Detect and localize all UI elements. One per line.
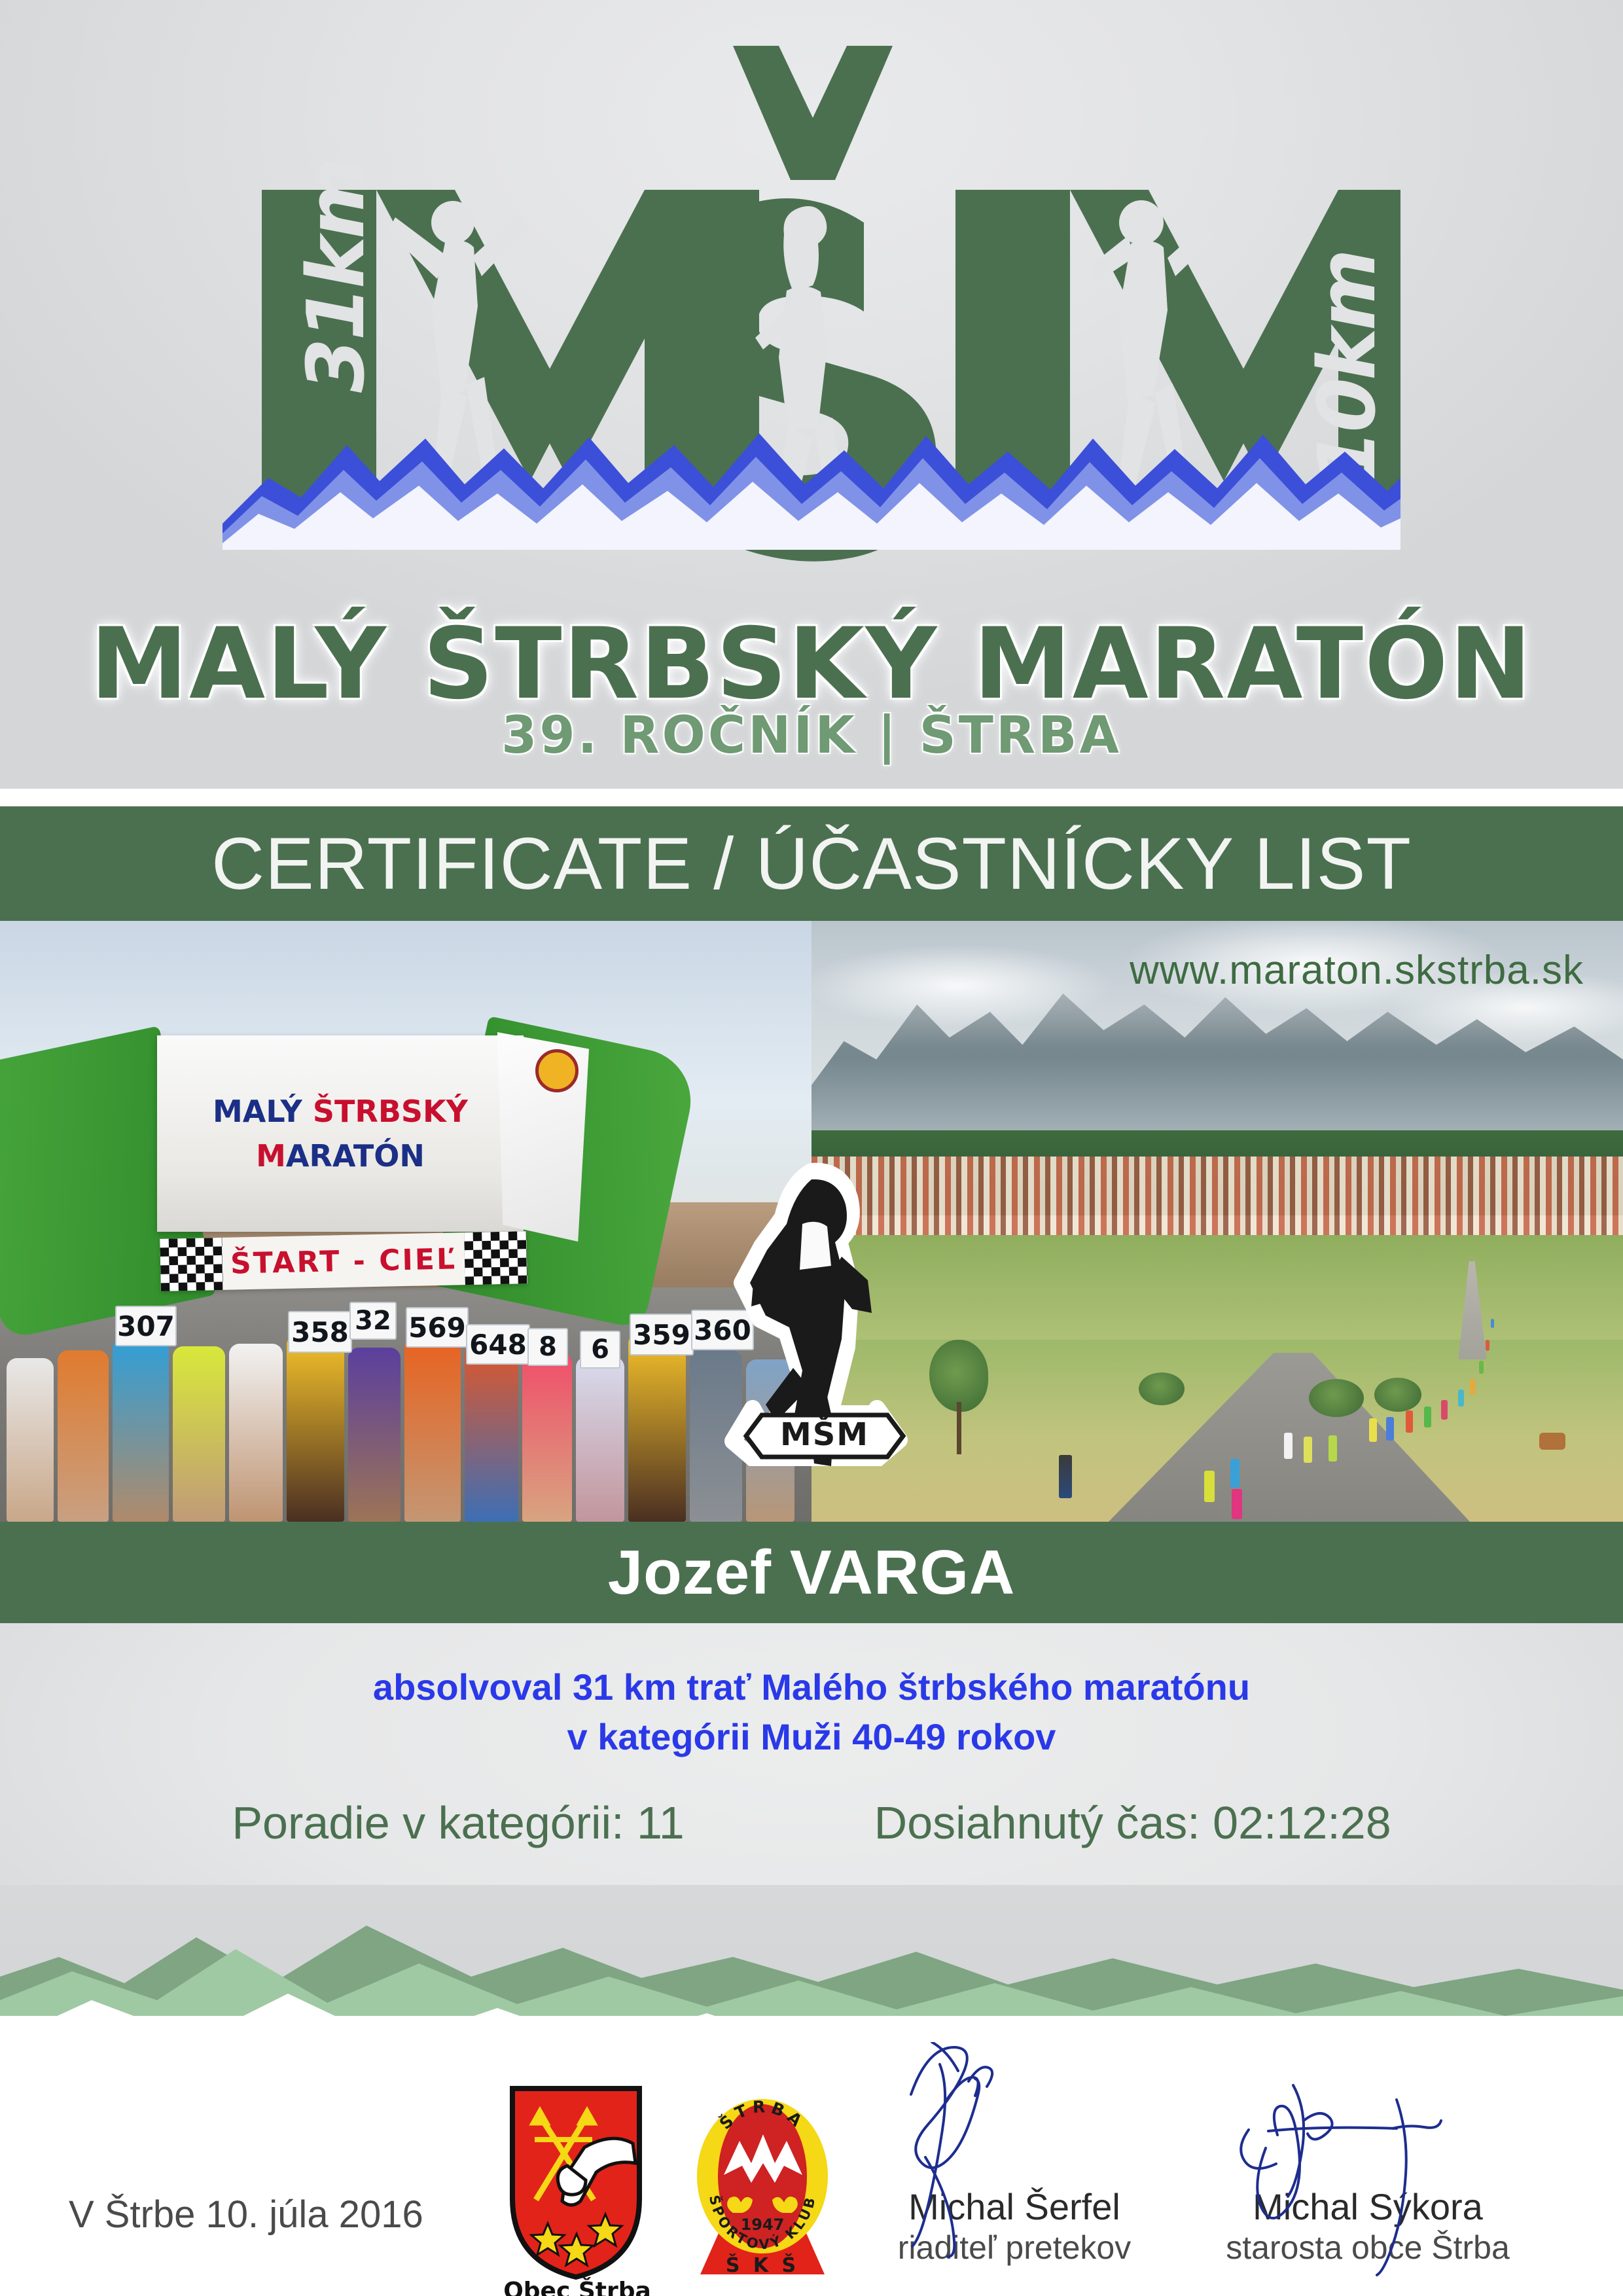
bush: [1374, 1378, 1421, 1412]
course-runner: [1491, 1319, 1494, 1328]
certificate-page: 31km: [0, 0, 1623, 2296]
course-runner: [1386, 1417, 1394, 1441]
course-runner: [1486, 1340, 1489, 1351]
signature-mark-sykora: [1230, 2062, 1505, 2278]
finish-time: Dosiahnutý čas: 02:12:28: [874, 1797, 1391, 1849]
runner-bib: 358: [288, 1311, 352, 1353]
event-subtitle: 39. ROČNÍK | ŠTRBA: [0, 710, 1623, 761]
course-runner: [1470, 1379, 1475, 1395]
course-runner: [1204, 1471, 1215, 1502]
start-finish-text: ŠTART - CIEĽ: [230, 1242, 457, 1280]
course-runner: [1369, 1418, 1377, 1442]
crest-caption: Obec Štrba: [486, 2278, 669, 2296]
flag-badge-icon: [535, 1049, 579, 1092]
bush: [1139, 1372, 1185, 1405]
msm-logo: 31km: [0, 0, 1623, 789]
runner-bib: 648: [466, 1324, 530, 1365]
category-rank: Poradie v kategórii: 11: [232, 1797, 684, 1849]
course-runner: [1232, 1489, 1242, 1519]
certificate-title: CERTIFICATE / ÚČASTNÍCKY LIST: [211, 821, 1412, 906]
achievement-line-1: absolvoval 31 km trať Malého štrbského m…: [0, 1662, 1623, 1712]
club-initials: Š K Š: [726, 2253, 799, 2277]
start-finish-banner: ŠTART - CIEĽ: [160, 1231, 527, 1291]
course-runner: [1406, 1410, 1413, 1433]
svg-text:MŠM: MŠM: [780, 1416, 869, 1453]
participant-name-band: Jozef VARGA: [0, 1522, 1623, 1623]
result-stats: Poradie v kategórii: 11 Dosiahnutý čas: …: [0, 1797, 1623, 1849]
arch-banner: MALÝ ŠTRBSKÝ MARATÓN: [157, 1035, 524, 1232]
course-runner: [1458, 1390, 1464, 1407]
runner-bib: 307: [115, 1306, 177, 1346]
svg-text:10km: 10km: [1302, 251, 1393, 484]
runner-bib: 8: [527, 1328, 568, 1366]
details-section: absolvoval 31 km trať Malého štrbského m…: [0, 1623, 1623, 1898]
achievement-line-2: v kategórii Muži 40-49 rokov: [0, 1712, 1623, 1762]
checkered-pattern-left: [160, 1238, 223, 1291]
website-url[interactable]: www.maraton.skstrba.sk: [1130, 947, 1584, 994]
runner-bib: 569: [406, 1307, 469, 1348]
runner-bib: 32: [349, 1302, 397, 1340]
course-runner: [1424, 1407, 1431, 1427]
runner-bib: 6: [580, 1331, 620, 1369]
course-runner: [1479, 1361, 1484, 1374]
checkered-pattern-right: [464, 1231, 527, 1285]
course-runner: [1230, 1459, 1240, 1488]
participant-name: Jozef VARGA: [608, 1537, 1016, 1609]
course-runner: [1441, 1400, 1448, 1420]
spectator: [1059, 1455, 1072, 1498]
sks-club-logo-icon: 1947 ŠTRBA ŠPORTOVÝ KLUB Š K Š: [687, 2078, 838, 2287]
msm-logo-svg: 31km: [223, 26, 1400, 681]
event-title: MALÝ ŠTRBSKÝ MARATÓN: [0, 615, 1623, 713]
arch-banner-line1: MALÝ ŠTRBSKÝ: [213, 1094, 468, 1129]
cow: [1539, 1433, 1565, 1450]
club-founding-year: 1947: [741, 2215, 785, 2234]
svg-text:31km: 31km: [291, 160, 382, 393]
course-runner: [1284, 1433, 1293, 1459]
footer-section: V Štrbe 10. júla 2016 Obec Štrba: [0, 2016, 1623, 2296]
runner-pack: 307 358 32 359 569 648 8 6 360: [0, 1287, 811, 1522]
issue-date: V Štrbe 10. júla 2016: [69, 2193, 423, 2236]
course-runner: [1304, 1437, 1312, 1463]
photo-start-line: MALÝ ŠTRBSKÝ MARATÓN ŠTART - CIEĽ: [0, 921, 811, 1522]
certificate-title-band: CERTIFICATE / ÚČASTNÍCKY LIST: [0, 806, 1623, 921]
obec-strba-crest-icon: [507, 2085, 645, 2281]
arch-banner-line2: MARATÓN: [256, 1138, 425, 1174]
achievement-text: absolvoval 31 km trať Malého štrbského m…: [0, 1662, 1623, 1761]
signature-mark-serfel: [877, 2042, 1073, 2258]
msm-runner-emblem: MŠM: [713, 1152, 936, 1466]
runner-bib: 359: [630, 1314, 694, 1355]
course-runner: [1329, 1435, 1337, 1462]
bush: [1309, 1379, 1364, 1417]
msm-emblem-text: MŠM: [746, 1415, 903, 1457]
header-section: 31km: [0, 0, 1623, 789]
